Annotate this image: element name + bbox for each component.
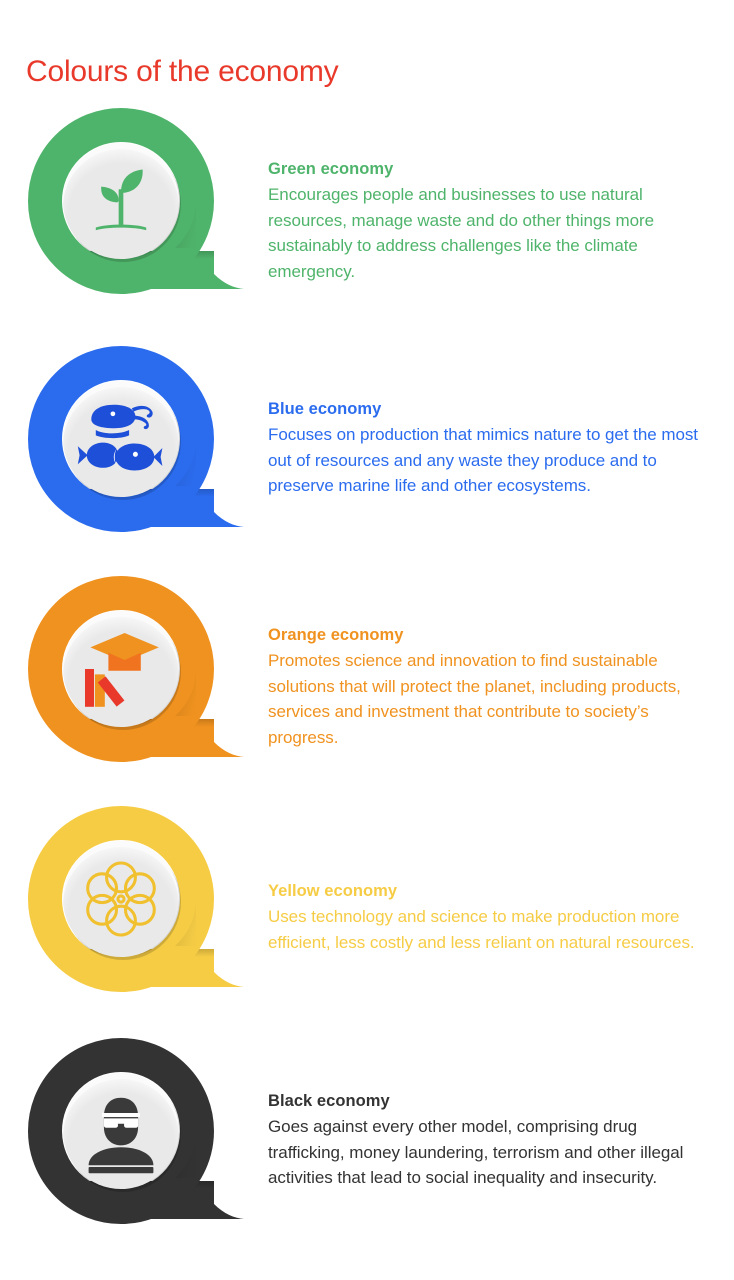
emblem-black (28, 1038, 258, 1248)
emblem-green (28, 108, 258, 318)
section-row-yellow: Yellow economyUses technology and scienc… (0, 800, 734, 1032)
section-heading: Yellow economy (268, 880, 714, 903)
section-body: Uses technology and science to make prod… (268, 904, 714, 955)
emblem-graphic (28, 806, 258, 1016)
section-heading: Green economy (268, 158, 714, 181)
emblem-graphic (28, 108, 258, 318)
emblem-blue (28, 346, 258, 556)
section-body: Goes against every other model, comprisi… (268, 1114, 714, 1191)
emblem-graphic (28, 576, 258, 786)
copy-blue: Blue economyFocuses on production that m… (268, 398, 714, 499)
section-row-orange: Orange economyPromotes science and innov… (0, 568, 734, 800)
section-body: Encourages people and businesses to use … (268, 182, 714, 284)
copy-orange: Orange economyPromotes science and innov… (268, 624, 714, 750)
emblem-graphic (28, 1038, 258, 1248)
emblem-graphic (28, 346, 258, 556)
copy-yellow: Yellow economyUses technology and scienc… (268, 880, 714, 955)
section-heading: Orange economy (268, 624, 714, 647)
page-title: Colours of the economy (26, 52, 338, 92)
emblem-orange (28, 576, 258, 786)
section-body: Focuses on production that mimics nature… (268, 422, 714, 499)
section-row-green: Green economyEncourages people and busin… (0, 104, 734, 336)
section-heading: Black economy (268, 1090, 714, 1113)
copy-black: Black economyGoes against every other mo… (268, 1090, 714, 1191)
section-row-black: Black economyGoes against every other mo… (0, 1032, 734, 1264)
infographic-page: Colours of the economy (0, 0, 734, 1280)
section-heading: Blue economy (268, 398, 714, 421)
section-body: Promotes science and innovation to find … (268, 648, 714, 750)
copy-green: Green economyEncourages people and busin… (268, 158, 714, 284)
sections-list: Green economyEncourages people and busin… (0, 104, 734, 1264)
emblem-yellow (28, 806, 258, 1016)
section-row-blue: Blue economyFocuses on production that m… (0, 336, 734, 568)
